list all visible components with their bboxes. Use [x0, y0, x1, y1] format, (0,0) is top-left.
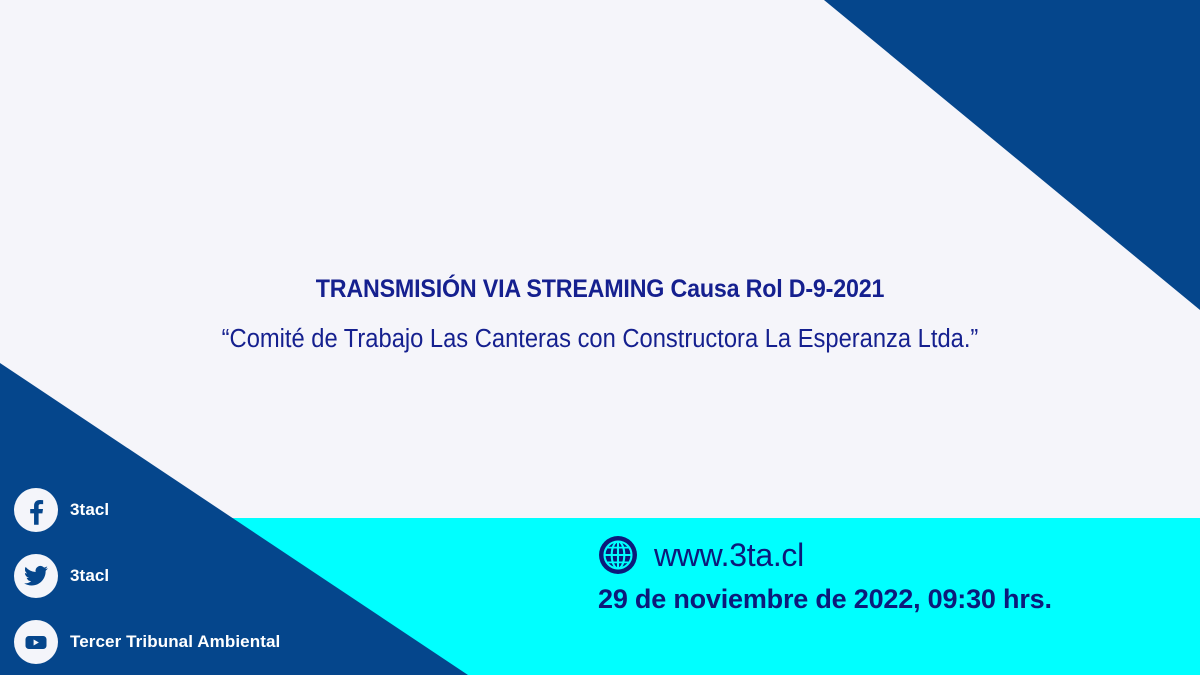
event-datetime: 29 de noviembre de 2022, 09:30 hrs.	[598, 584, 1052, 615]
globe-icon	[598, 535, 638, 575]
twitter-icon	[14, 554, 58, 598]
social-handle-facebook: 3tacl	[70, 500, 109, 520]
top-right-blue-triangle	[824, 0, 1200, 310]
social-item-facebook[interactable]: 3tacl	[14, 487, 280, 533]
website-url[interactable]: www.3ta.cl	[654, 537, 804, 574]
youtube-icon	[14, 620, 58, 664]
page-title: TRANSMISIÓN VIA STREAMING Causa Rol D-9-…	[42, 272, 1158, 306]
website-row[interactable]: www.3ta.cl	[598, 532, 1052, 578]
case-subtitle: “Comité de Trabajo Las Canteras con Cons…	[42, 322, 1158, 356]
social-handle-twitter: 3tacl	[70, 566, 109, 586]
facebook-icon	[14, 488, 58, 532]
social-links-list: 3tacl 3tacl Tercer Tribunal Ambiental	[14, 487, 280, 665]
footer-info-block: www.3ta.cl 29 de noviembre de 2022, 09:3…	[598, 532, 1052, 615]
streaming-announcement-slide: TRANSMISIÓN VIA STREAMING Causa Rol D-9-…	[0, 0, 1200, 675]
social-item-youtube[interactable]: Tercer Tribunal Ambiental	[14, 619, 280, 665]
social-item-twitter[interactable]: 3tacl	[14, 553, 280, 599]
social-handle-youtube: Tercer Tribunal Ambiental	[70, 632, 280, 652]
headline-block: TRANSMISIÓN VIA STREAMING Causa Rol D-9-…	[0, 272, 1200, 356]
